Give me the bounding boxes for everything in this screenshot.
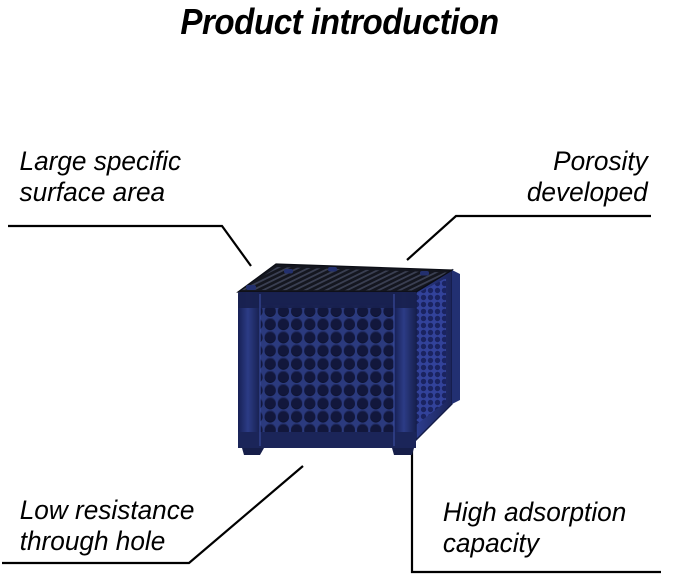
product-top-face — [238, 264, 452, 292]
callout-high-adsorption-capacity: High adsorption capacity — [443, 497, 626, 559]
callout-low-resistance-through-hole: Low resistance through hole — [20, 495, 195, 557]
product-right-face — [412, 270, 460, 440]
leader-line-top-left — [8, 226, 251, 266]
product-introduction-page: Product introduction Large specific surf… — [0, 0, 679, 581]
callout-porosity-developed: Porosity developed — [527, 146, 648, 208]
page-title: Product introduction — [27, 0, 652, 44]
product-front-face — [238, 292, 416, 448]
product-image — [224, 252, 464, 464]
callout-large-specific-surface-area: Large specific surface area — [19, 146, 181, 208]
honeycomb-filter-block-illustration — [224, 252, 464, 464]
